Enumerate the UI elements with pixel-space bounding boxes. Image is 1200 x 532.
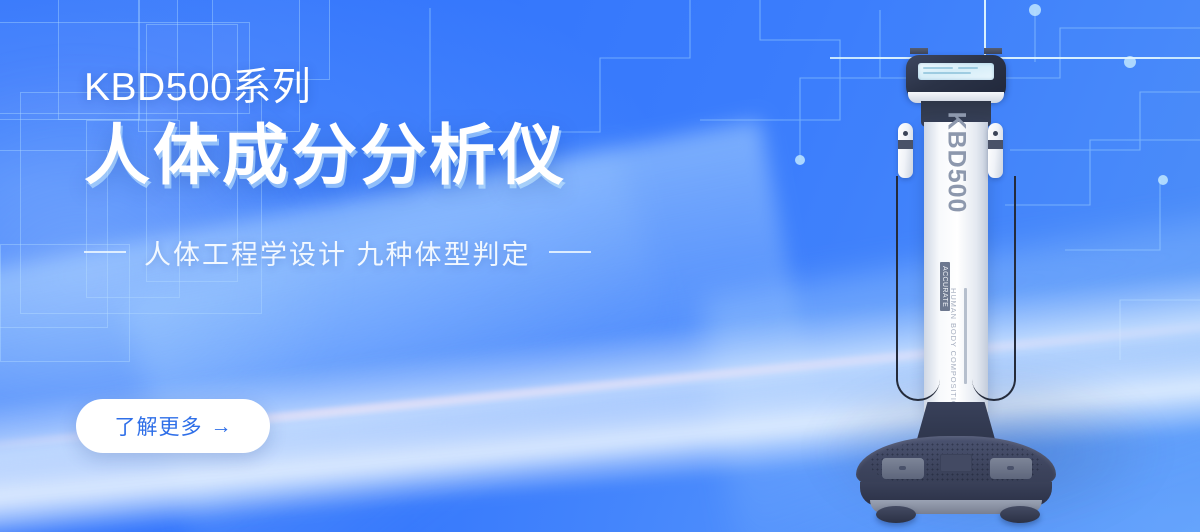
product-series-label: KBD500系列 <box>84 68 704 109</box>
product-hero-banner: KBD500系列 人体成分分析仪 人体工程学设计 九种体型判定 了解更多 → K… <box>0 0 1200 532</box>
arrow-right-icon: → <box>211 416 232 437</box>
device-electrode-pad-right <box>990 458 1032 479</box>
device-cable-right <box>972 176 1016 401</box>
hero-copy: KBD500系列 人体成分分析仪 人体工程学设计 九种体型判定 <box>84 68 704 272</box>
rule-left-icon <box>84 251 126 253</box>
hero-subtitle-row: 人体工程学设计 九种体型判定 <box>84 233 704 272</box>
device-foot-left <box>876 506 916 523</box>
circuit-node-icon <box>1029 4 1041 16</box>
device-handle-arm-left <box>910 48 928 54</box>
device-screen <box>918 63 994 80</box>
device-handle-right <box>988 123 1003 178</box>
learn-more-label: 了解更多 <box>115 411 203 441</box>
device-center-plate <box>940 454 972 472</box>
circuit-node-icon <box>795 155 805 165</box>
learn-more-button[interactable]: 了解更多 → <box>76 399 270 453</box>
hero-subtitle: 人体工程学设计 九种体型判定 <box>144 233 531 272</box>
page-title: 人体成分分析仪 <box>84 121 704 191</box>
device-handle-arm-right <box>984 48 1002 54</box>
device-electrode-pad-left <box>882 458 924 479</box>
device-handle-left <box>898 123 913 178</box>
rule-right-icon <box>549 251 591 253</box>
circuit-node-icon <box>1158 175 1168 185</box>
product-image-body-composition-analyzer: KBD500 ACCURATE HUMAN BODY COMPOSITION A… <box>838 30 1138 522</box>
device-rule <box>964 288 967 384</box>
device-cable-left <box>896 176 940 401</box>
device-foot-right <box>1000 506 1040 523</box>
